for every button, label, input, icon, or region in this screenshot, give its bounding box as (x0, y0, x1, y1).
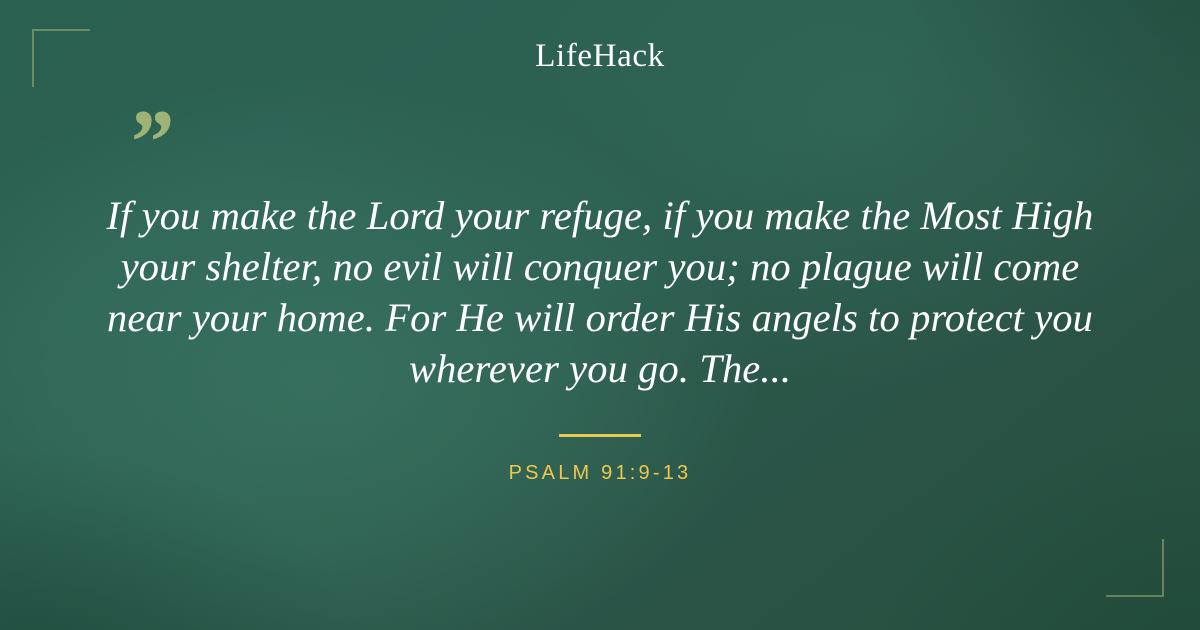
corner-bracket-bottom-right-icon (1106, 539, 1164, 597)
gold-divider (559, 434, 641, 437)
quote-card: LifeHack ” If you make the Lord your ref… (0, 0, 1200, 630)
quote-text: If you make the Lord your refuge, if you… (88, 190, 1112, 394)
brand-logo[interactable]: LifeHack (0, 38, 1200, 75)
quote-block: If you make the Lord your refuge, if you… (88, 190, 1112, 394)
quote-attribution: PSALM 91:9-13 (0, 462, 1200, 485)
quotation-mark-icon: ” (126, 96, 170, 188)
